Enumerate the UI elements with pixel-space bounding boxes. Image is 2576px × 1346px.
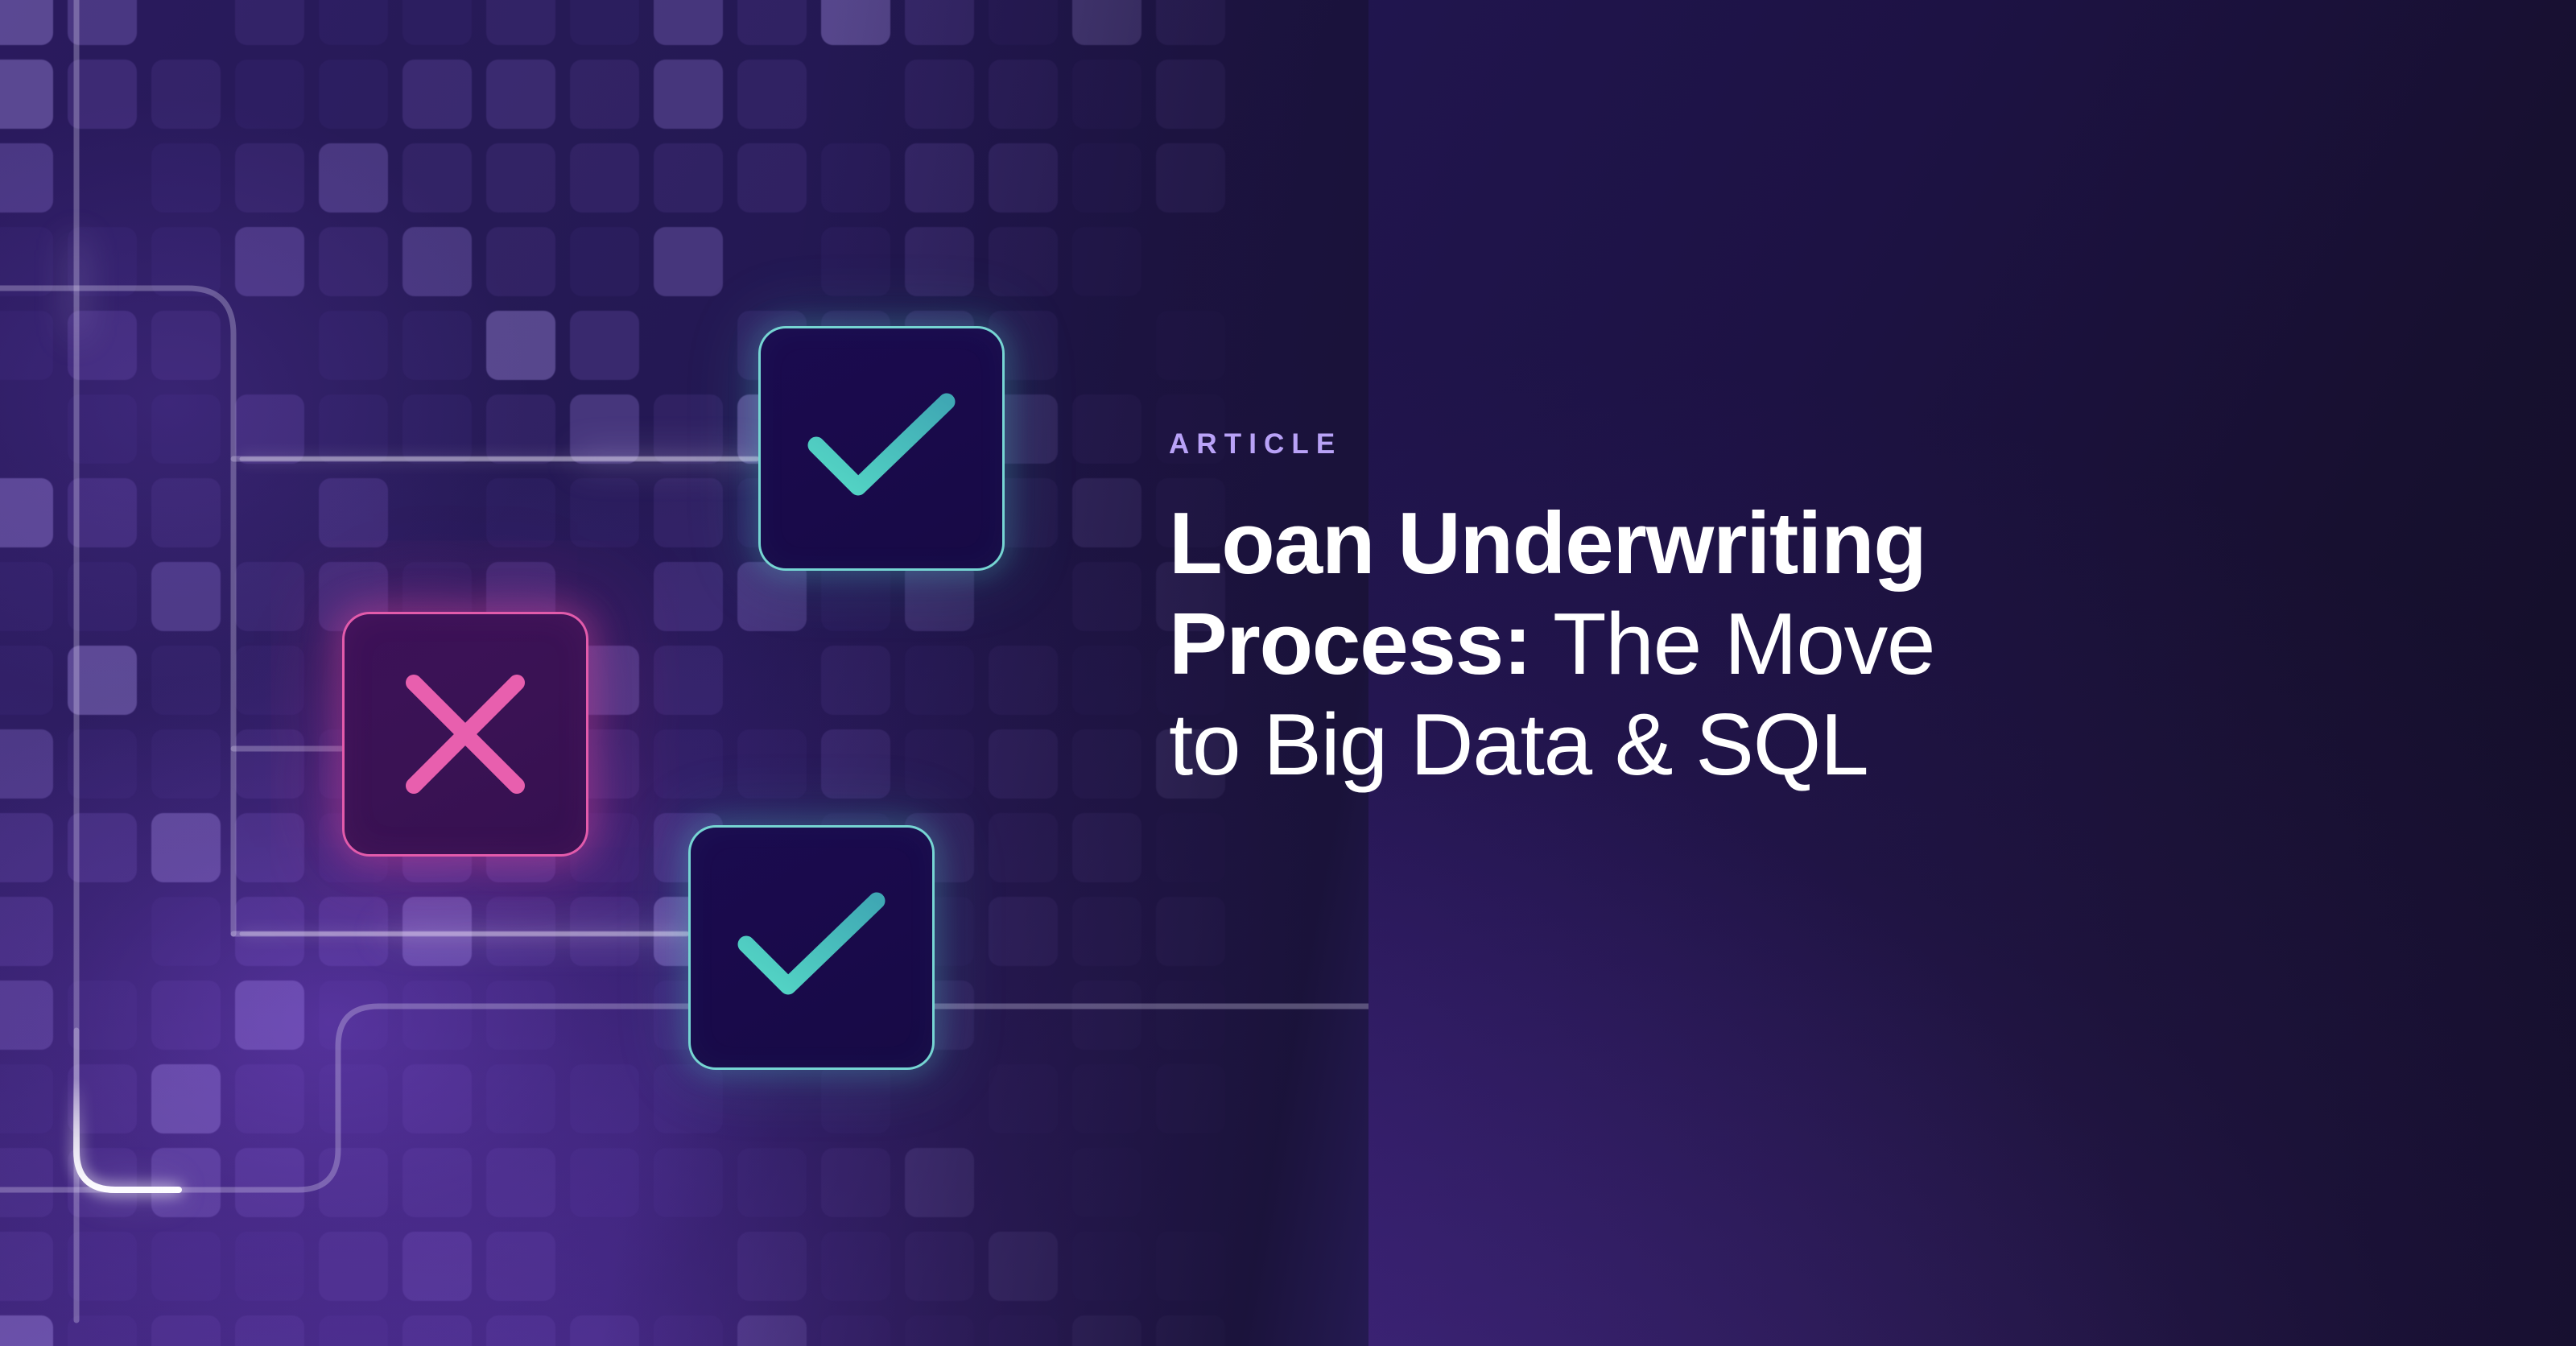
x-icon bbox=[401, 670, 530, 799]
check-icon bbox=[735, 891, 888, 1004]
circuit-traces bbox=[0, 0, 1368, 1346]
title-line-2-thin: The Move bbox=[1531, 595, 1934, 693]
approval-card-check-bottom bbox=[688, 825, 935, 1070]
check-icon bbox=[805, 392, 958, 505]
title-line-2-bold: Process: bbox=[1169, 595, 1531, 693]
hero-text-block: ARTICLE Loan Underwriting Process: The M… bbox=[1169, 430, 2425, 795]
article-hero-banner: ARTICLE Loan Underwriting Process: The M… bbox=[0, 0, 2576, 1346]
rejection-card-x bbox=[342, 612, 588, 857]
title-line-3: to Big Data & SQL bbox=[1169, 695, 2425, 795]
page-title: Loan Underwriting Process: The Move to B… bbox=[1169, 493, 2425, 795]
title-line-3-thin: to Big Data & SQL bbox=[1169, 696, 1868, 794]
approval-card-check-top bbox=[758, 326, 1005, 571]
eyebrow-label: ARTICLE bbox=[1169, 430, 2425, 458]
title-line-1-bold: Loan Underwriting bbox=[1169, 494, 1926, 592]
title-line-2: Process: The Move bbox=[1169, 594, 2425, 695]
title-line-1: Loan Underwriting bbox=[1169, 493, 2425, 594]
